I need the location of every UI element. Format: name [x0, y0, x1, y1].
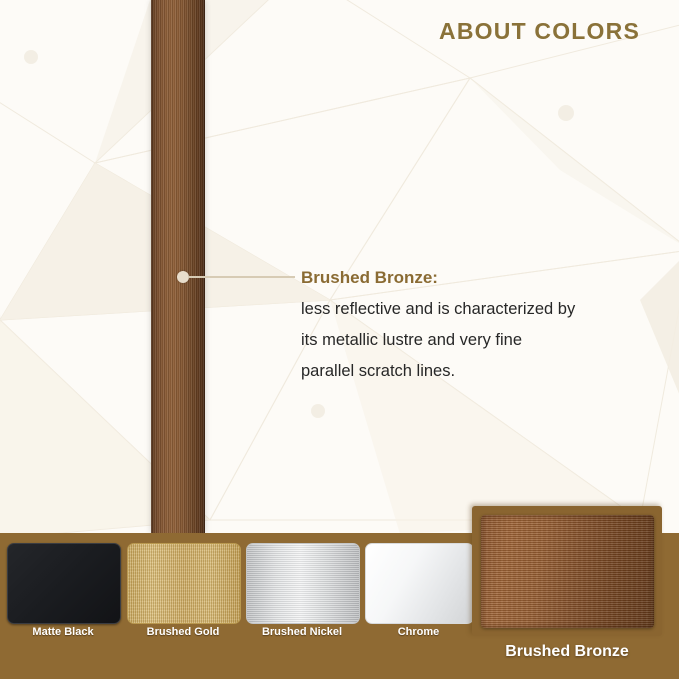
background-dot-3 — [311, 404, 325, 418]
background-dot-2 — [558, 105, 574, 121]
swatch-brushed-gold[interactable] — [127, 543, 241, 624]
about-colors-infographic: ABOUT COLORS Brushed Bronze: less reflec… — [0, 0, 679, 679]
swatch-label-matte-black: Matte Black — [7, 626, 119, 638]
swatch-label-brushed-bronze: Brushed Bronze — [472, 643, 662, 661]
bronze-finish-product-bar — [151, 0, 205, 534]
swatch-chrome[interactable] — [365, 543, 474, 624]
swatch-brushed-bronze[interactable] — [481, 515, 654, 628]
swatch-label-chrome: Chrome — [365, 626, 472, 638]
callout-body-line-1: less reflective and is characterized by — [301, 294, 651, 325]
callout-body-line-2: its metallic lustre and very fine — [301, 325, 651, 356]
callout-description: Brushed Bronze: less reflective and is c… — [301, 264, 651, 387]
background-dot-1 — [24, 50, 38, 64]
callout-heading: Brushed Bronze: — [301, 264, 651, 292]
page-title: ABOUT COLORS — [439, 18, 640, 45]
callout-leader-line — [188, 276, 295, 278]
swatch-brushed-nickel[interactable] — [246, 543, 360, 624]
callout-body: less reflective and is characterized by … — [301, 294, 651, 387]
swatch-label-brushed-gold: Brushed Gold — [127, 626, 239, 638]
swatch-label-brushed-nickel: Brushed Nickel — [246, 626, 358, 638]
callout-body-line-3: parallel scratch lines. — [301, 356, 651, 387]
swatch-matte-black[interactable] — [7, 543, 121, 624]
